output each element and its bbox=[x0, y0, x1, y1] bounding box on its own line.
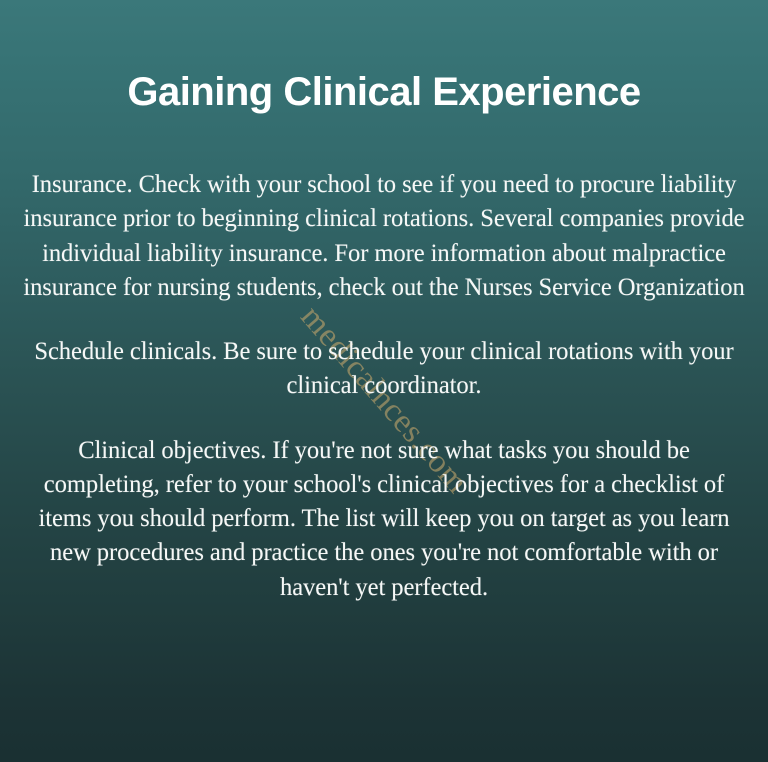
poster-canvas: medicalnces.com Gaining Clinical Experie… bbox=[0, 0, 768, 762]
body-copy: Insurance. Check with your school to see… bbox=[8, 168, 760, 605]
poster-content: Gaining Clinical Experience Insurance. C… bbox=[0, 0, 768, 605]
paragraph-insurance: Insurance. Check with your school to see… bbox=[20, 168, 749, 305]
paragraph-clinical-objectives: Clinical objectives. If you're not sure … bbox=[20, 434, 749, 605]
page-title: Gaining Clinical Experience bbox=[8, 0, 760, 114]
paragraph-schedule-clinicals: Schedule clinicals. Be sure to schedule … bbox=[20, 335, 749, 404]
